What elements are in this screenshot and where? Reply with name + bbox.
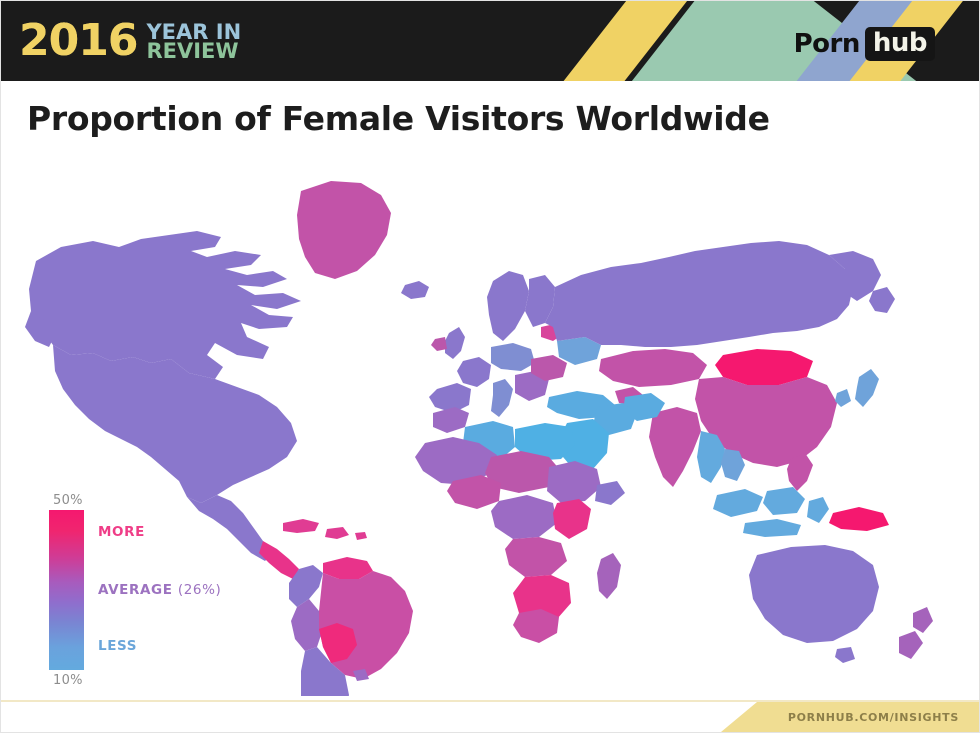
region-tasmania[interactable] — [835, 647, 855, 663]
region-russia[interactable] — [545, 241, 853, 347]
region-south-africa-cape[interactable] — [513, 609, 559, 643]
legend-label-less: LESS — [98, 638, 137, 654]
region-germany-poland[interactable] — [491, 343, 535, 371]
region-greenland[interactable] — [297, 181, 391, 279]
region-new-zealand[interactable] — [913, 607, 933, 633]
legend-label-more: MORE — [98, 524, 145, 540]
footer-url[interactable]: PORNHUB.COM/INSIGHTS — [788, 711, 959, 724]
region-france[interactable] — [457, 357, 491, 387]
region-indonesia-sumatra[interactable] — [713, 489, 763, 517]
region-hispaniola[interactable] — [325, 527, 349, 539]
year-number: 2016 — [19, 19, 137, 63]
region-puerto-rico[interactable] — [355, 532, 367, 540]
review-label: REVIEW — [146, 42, 241, 61]
region-scandinavia[interactable] — [487, 271, 529, 341]
region-madagascar[interactable] — [597, 553, 621, 599]
legend-bar-row: MORE AVERAGE (26%) LESS — [49, 510, 279, 670]
page-header: 2016 YEAR IN REVIEW Porn hub — [1, 1, 980, 81]
legend-average-value: (26%) — [178, 582, 222, 598]
map-legend: 50% MORE AVERAGE (26%) LESS 10% — [49, 493, 279, 688]
region-kazakhstan[interactable] — [599, 349, 707, 387]
region-india[interactable] — [649, 407, 701, 487]
region-iceland[interactable] — [401, 281, 429, 299]
region-peru[interactable] — [291, 599, 323, 651]
page-footer: PORNHUB.COM/INSIGHTS — [1, 698, 980, 732]
legend-average-word: AVERAGE — [98, 582, 173, 598]
legend-label-group: MORE AVERAGE (26%) LESS — [84, 510, 269, 670]
region-japan[interactable] — [855, 369, 879, 407]
logo-porn-text: Porn — [794, 29, 865, 59]
footer-divider — [1, 700, 980, 702]
region-somalia[interactable] — [595, 481, 625, 505]
region-new-zealand-south[interactable] — [899, 631, 923, 659]
region-sulawesi[interactable] — [807, 497, 829, 523]
region-uk[interactable] — [445, 327, 465, 359]
region-korea[interactable] — [835, 389, 851, 407]
pornhub-logo[interactable]: Porn hub — [794, 27, 935, 61]
region-kenya-tanzania[interactable] — [553, 499, 591, 539]
region-australia[interactable] — [749, 545, 879, 643]
region-morocco[interactable] — [433, 407, 469, 433]
legend-label-average: AVERAGE (26%) — [98, 582, 221, 598]
infographic-page: 2016 YEAR IN REVIEW Porn hub Proportion … — [0, 0, 980, 733]
year-in-review-words: YEAR IN REVIEW — [146, 23, 241, 62]
year-in-review-logo: 2016 YEAR IN REVIEW — [19, 9, 241, 73]
page-title: Proportion of Female Visitors Worldwide — [27, 99, 770, 138]
region-congo[interactable] — [491, 495, 557, 539]
legend-max-value: 50% — [53, 493, 279, 508]
region-angola-zambia[interactable] — [505, 537, 567, 577]
region-indonesia-borneo[interactable] — [763, 487, 805, 515]
region-new-guinea[interactable] — [829, 507, 889, 531]
region-italy[interactable] — [491, 379, 513, 417]
legend-min-value: 10% — [53, 673, 279, 688]
region-indonesia-java[interactable] — [743, 519, 801, 537]
region-cuba[interactable] — [283, 519, 319, 533]
region-usa[interactable] — [53, 345, 297, 503]
legend-gradient-bar — [49, 510, 84, 670]
logo-hub-text: hub — [865, 27, 935, 61]
region-ireland[interactable] — [431, 337, 447, 351]
